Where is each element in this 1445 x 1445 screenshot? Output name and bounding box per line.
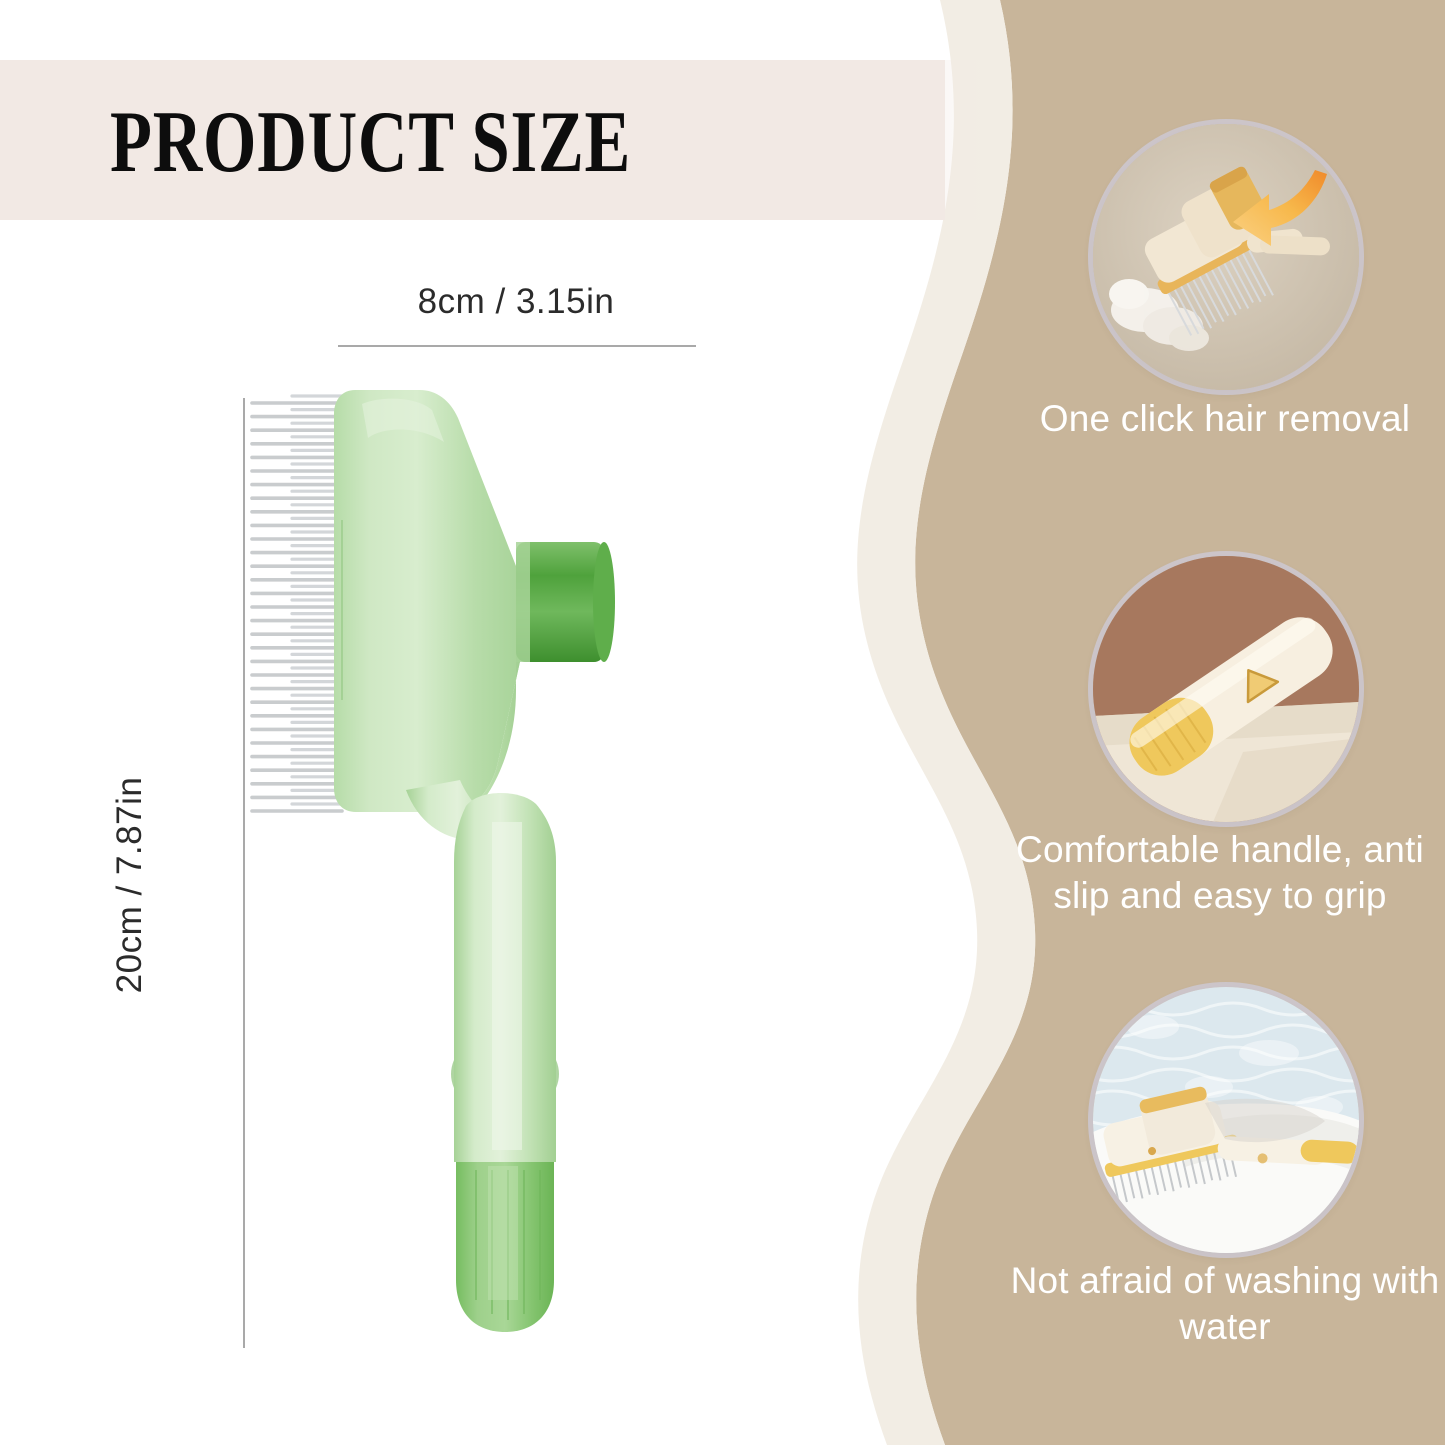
height-dimension-label: 20cm / 7.87in [110, 685, 150, 1085]
title-banner-fade [830, 60, 990, 220]
page-title: PRODUCT SIZE [110, 95, 631, 191]
product-image [230, 370, 750, 1350]
handle-highlight [492, 822, 522, 1150]
feature-photo-comfortable-handle [1093, 556, 1359, 822]
release-button[interactable] [516, 542, 615, 662]
handle-grip-cap [456, 1162, 554, 1332]
handle-notch-right [556, 1060, 559, 1088]
brush-pin-rows [252, 396, 342, 811]
handle-notch-left [451, 1060, 454, 1088]
infographic-canvas: PRODUCT SIZE 8cm / 3.15in 20cm / 7.87in [0, 0, 1445, 1445]
width-dimension-label: 8cm / 3.15in [338, 282, 694, 322]
feature-photo-one-click-hair-removal [1093, 124, 1359, 390]
feature-caption-washable: Not afraid of washing with water [1005, 1258, 1445, 1350]
feature-photo-washable [1093, 987, 1359, 1253]
feature-caption-one-click-hair-removal: One click hair removal [1005, 396, 1445, 442]
width-dimension-line [338, 345, 696, 347]
feature-caption-comfortable-handle: Comfortable handle, anti slip and easy t… [1000, 827, 1440, 919]
